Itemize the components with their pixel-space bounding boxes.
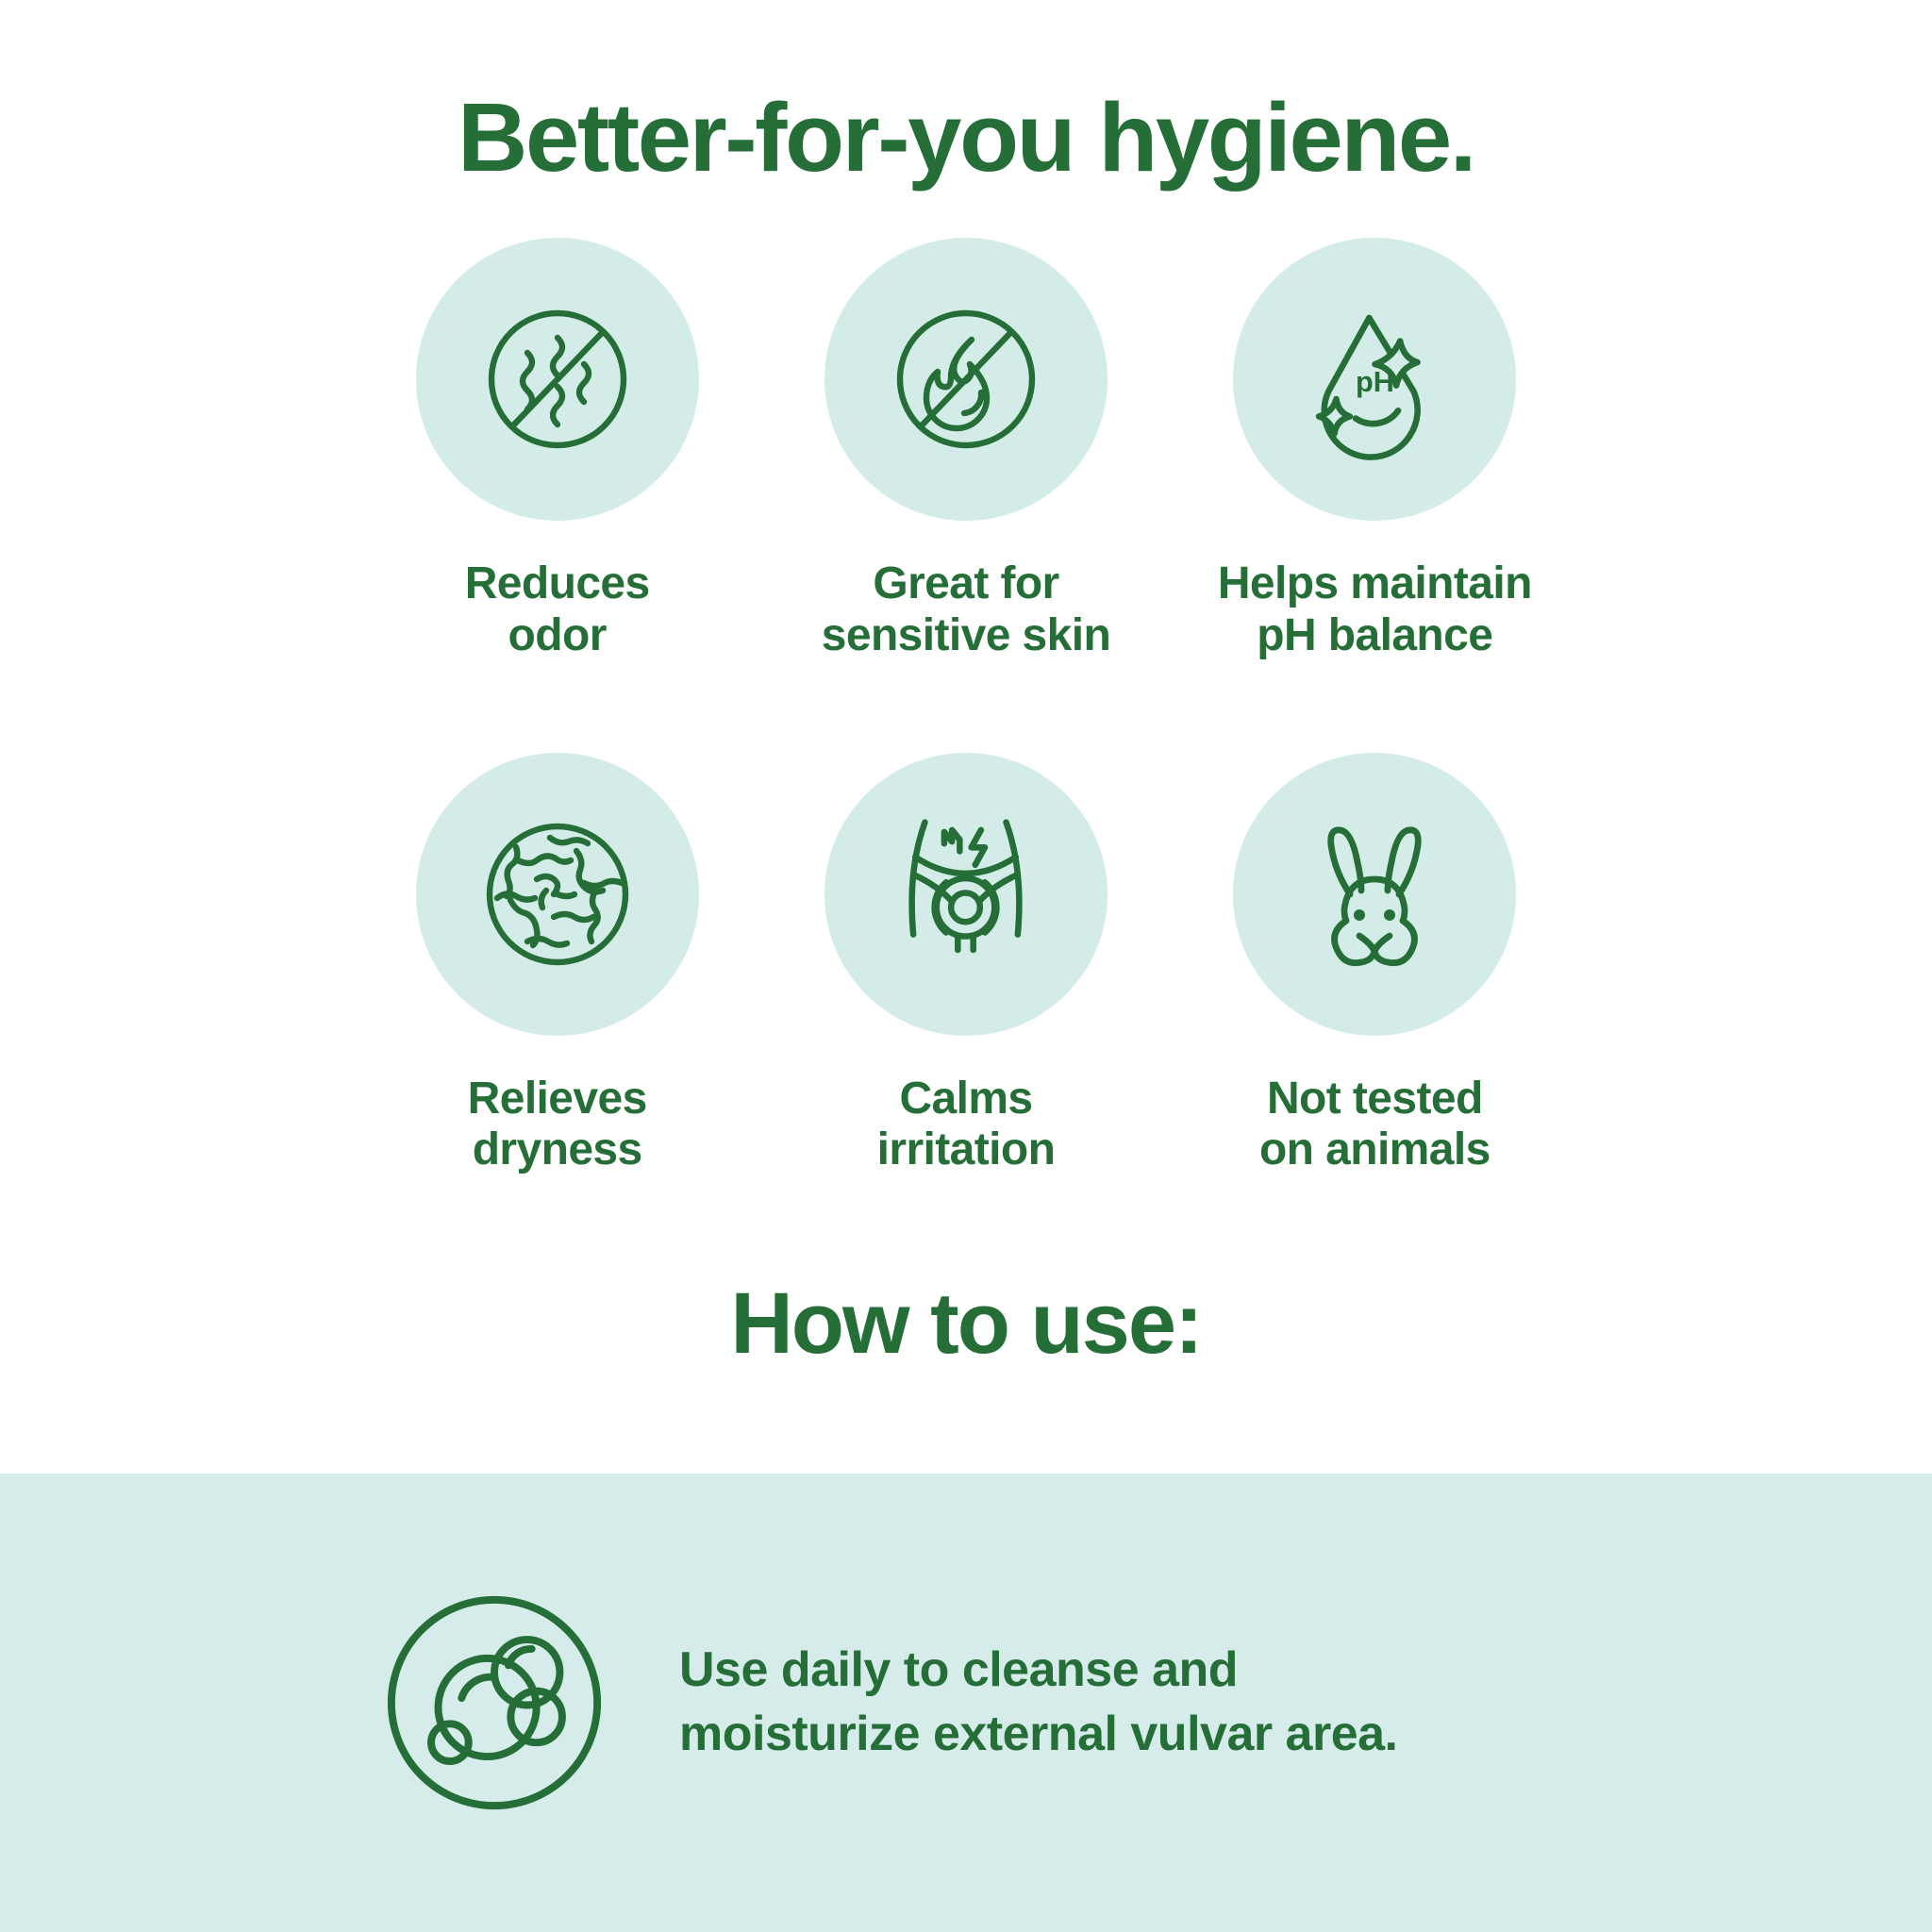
benefit-label: Relieves dryness [468,1074,647,1176]
infographic-page: Better-for-you hygiene. [0,0,1932,1932]
bunny-icon [1280,800,1469,989]
benefit-not-tested-on-animals: Not tested on animals [1171,753,1579,1176]
benefits-section: Better-for-you hygiene. [0,0,1932,1474]
no-burning-icon [872,285,1060,474]
how-to-use-section: Use daily to cleanse and moisturize exte… [0,1474,1932,1932]
how-to-use-title: How to use: [0,1274,1932,1374]
icon-badge [824,238,1108,521]
benefit-reduces-odor: Reduces odor [353,238,761,661]
benefit-grid: Reduces odor Great for sensitive skin [353,238,1579,1176]
icon-badge: pH [1233,238,1516,521]
benefit-label: Reduces odor [465,558,650,661]
icon-badge [416,238,699,521]
pelvic-pain-icon [869,797,1062,991]
icon-badge [824,753,1108,1036]
dry-cracked-icon [463,800,652,989]
no-odor-icon [463,285,652,474]
benefit-label: Helps maintain pH balance [1218,558,1532,661]
benefit-label: Great for sensitive skin [822,558,1110,661]
benefit-ph-balance: pH Helps maintain pH balance [1171,238,1579,661]
icon-badge [416,753,699,1036]
benefit-relieves-dryness: Relieves dryness [353,753,761,1176]
benefit-label: Calms irritation [877,1074,1056,1176]
icon-badge [1233,753,1516,1036]
bubbles-icon [377,1586,611,1820]
ph-droplet-icon: pH [1278,283,1472,476]
page-title: Better-for-you hygiene. [0,87,1932,189]
usage-instructions: Use daily to cleanse and moisturize exte… [679,1639,1398,1766]
benefit-calms-irritation: Calms irritation [761,753,1170,1176]
benefit-sensitive-skin: Great for sensitive skin [761,238,1170,661]
ph-text: pH [1356,364,1394,397]
benefit-label: Not tested on animals [1259,1074,1491,1176]
